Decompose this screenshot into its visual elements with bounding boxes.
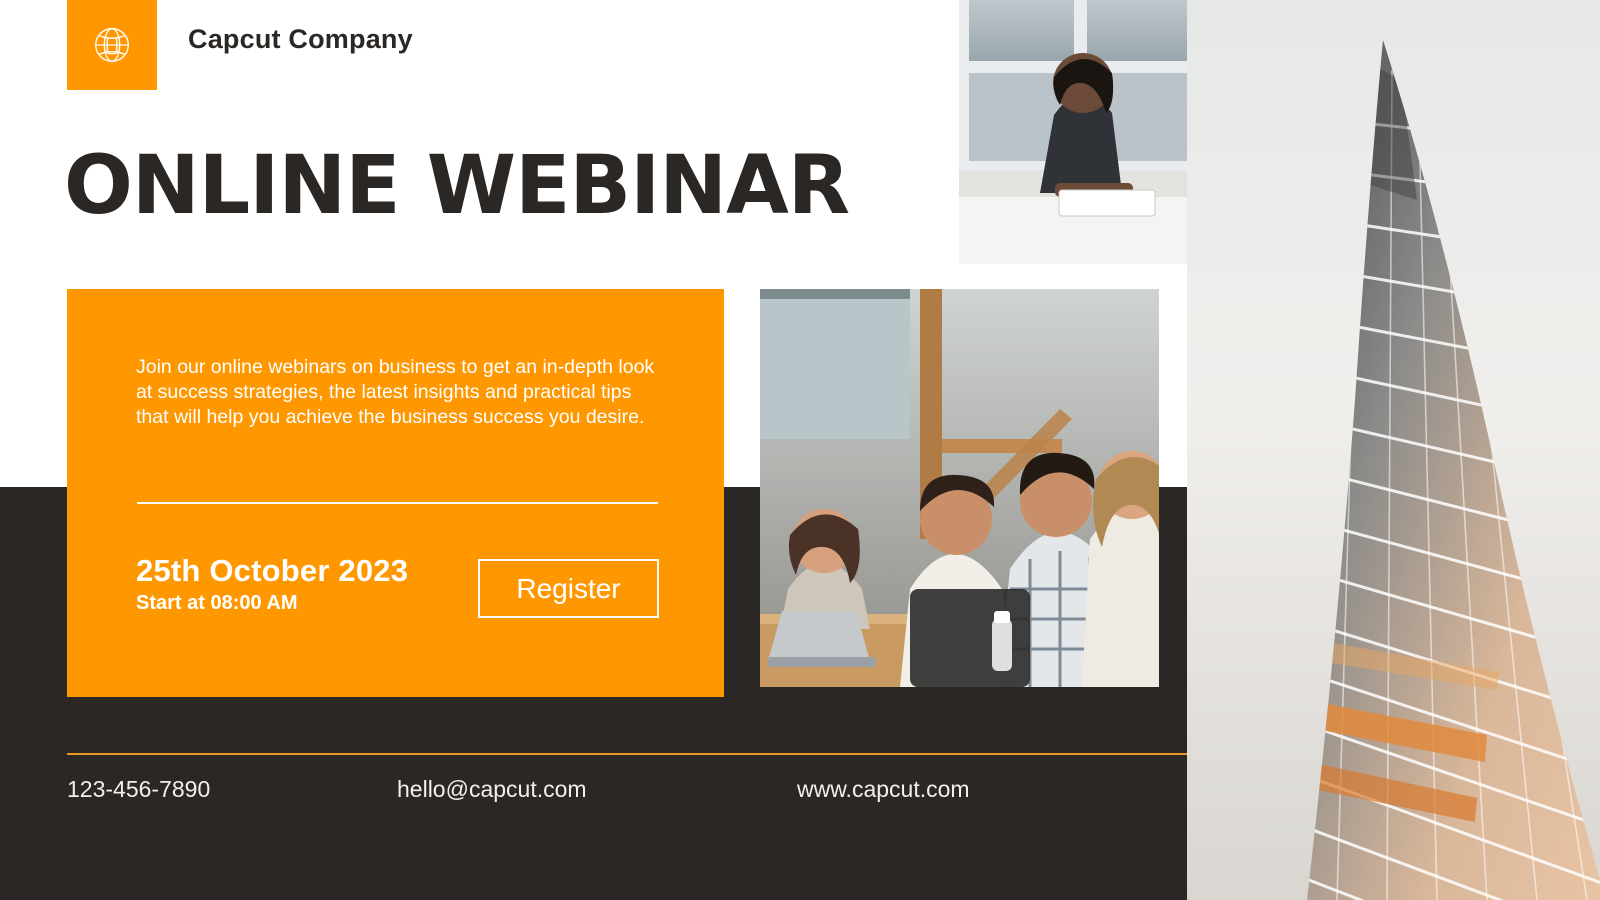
globe-icon — [89, 22, 135, 68]
event-start-time: Start at 08:00 AM — [136, 592, 298, 615]
photo-team-collaboration — [760, 289, 1159, 687]
webinar-poster: Capcut Company ONLINE WEBINAR Join our o… — [0, 0, 1600, 900]
event-date: 25th October 2023 — [136, 553, 408, 589]
company-name: Capcut Company — [188, 24, 413, 55]
page-title: ONLINE WEBINAR — [64, 148, 849, 225]
contact-email[interactable]: hello@capcut.com — [397, 776, 587, 803]
contact-phone[interactable]: 123-456-7890 — [67, 776, 210, 803]
contact-website[interactable]: www.capcut.com — [797, 776, 970, 803]
footer-divider — [67, 753, 1187, 755]
footer-contact-row: 123-456-7890 hello@capcut.com www.capcut… — [67, 776, 1187, 816]
photo-skyscraper — [1187, 0, 1600, 900]
info-description: Join our online webinars on business to … — [136, 355, 666, 430]
info-divider — [137, 502, 658, 504]
logo-tile — [67, 0, 157, 90]
register-button[interactable]: Register — [478, 559, 659, 618]
info-card: Join our online webinars on business to … — [67, 289, 724, 697]
